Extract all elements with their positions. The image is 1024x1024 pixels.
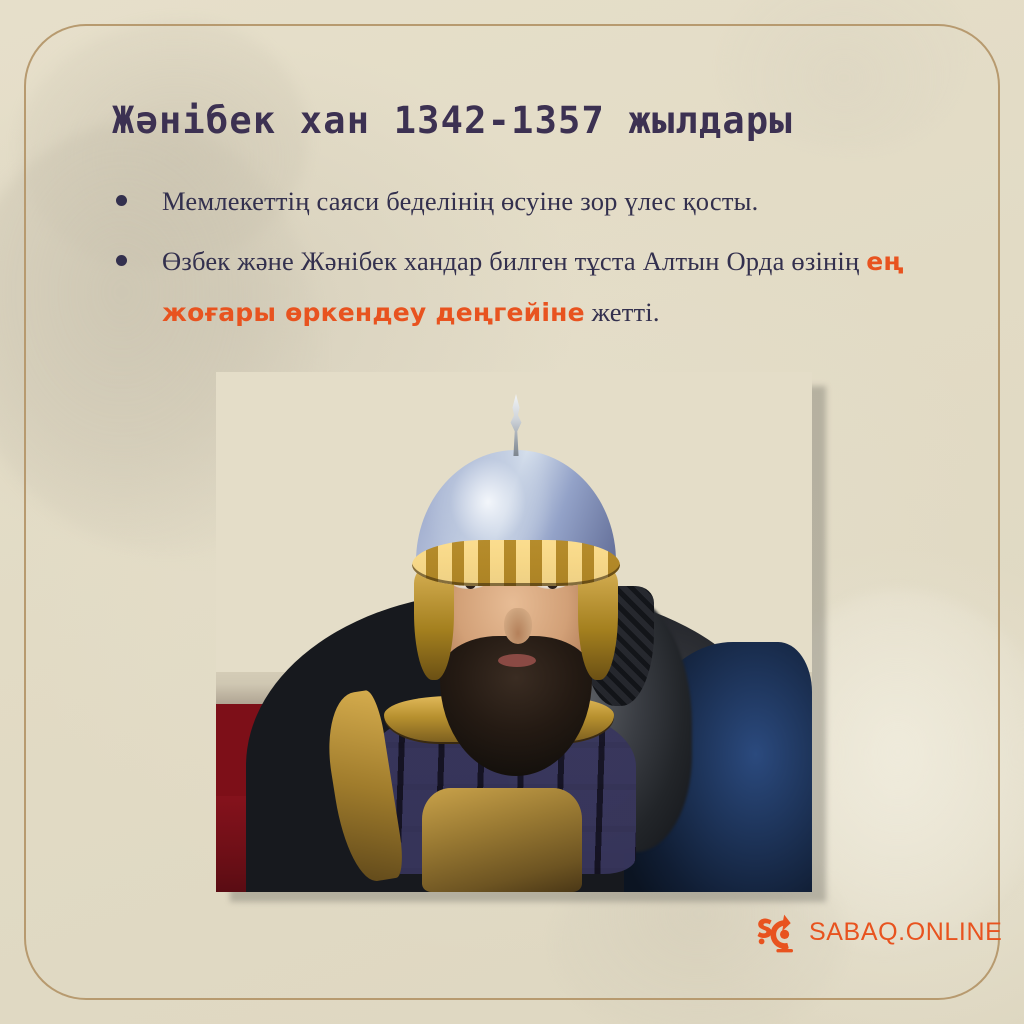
bullet-text-1-part-1: Мемлекеттің саяси беделінің өсуіне зор ү… [162, 186, 759, 216]
sabaq-logo[interactable]: SABAQ.ONLINE [752, 908, 1002, 956]
slide-content: Жәнібек хан 1342-1357 жылдары Мемлекетті… [0, 0, 1024, 1024]
portrait-gold-chestplate [422, 788, 582, 892]
portrait-photo-frame [216, 372, 812, 892]
slide-canvas: Жәнібек хан 1342-1357 жылдары Мемлекетті… [0, 0, 1024, 1024]
bullet-dot-icon [116, 195, 127, 206]
bullet-text-2-part-1: Өзбек және Жәнібек хандар билген тұста А… [162, 246, 866, 276]
slide-title: Жәнібек хан 1342-1357 жылдары [112, 99, 942, 142]
bullet-dot-icon [116, 255, 127, 266]
bullet-text-2-part-3: жетті. [585, 297, 660, 327]
bullet-item: Өзбек және Жәнібек хандар билген тұста А… [104, 236, 934, 338]
portrait-image [216, 372, 812, 892]
portrait-mouth [498, 654, 536, 667]
bullet-item: Мемлекеттің саяси беделінің өсуіне зор ү… [104, 176, 934, 226]
portrait-helmet-gold-band [412, 540, 620, 586]
sabaq-logo-text: SABAQ.ONLINE [809, 918, 1002, 947]
sabaq-logo-mark-icon [752, 908, 800, 956]
bullet-list: Мемлекеттің саяси беделінің өсуіне зор ү… [104, 176, 934, 348]
portrait-nose [504, 608, 532, 644]
